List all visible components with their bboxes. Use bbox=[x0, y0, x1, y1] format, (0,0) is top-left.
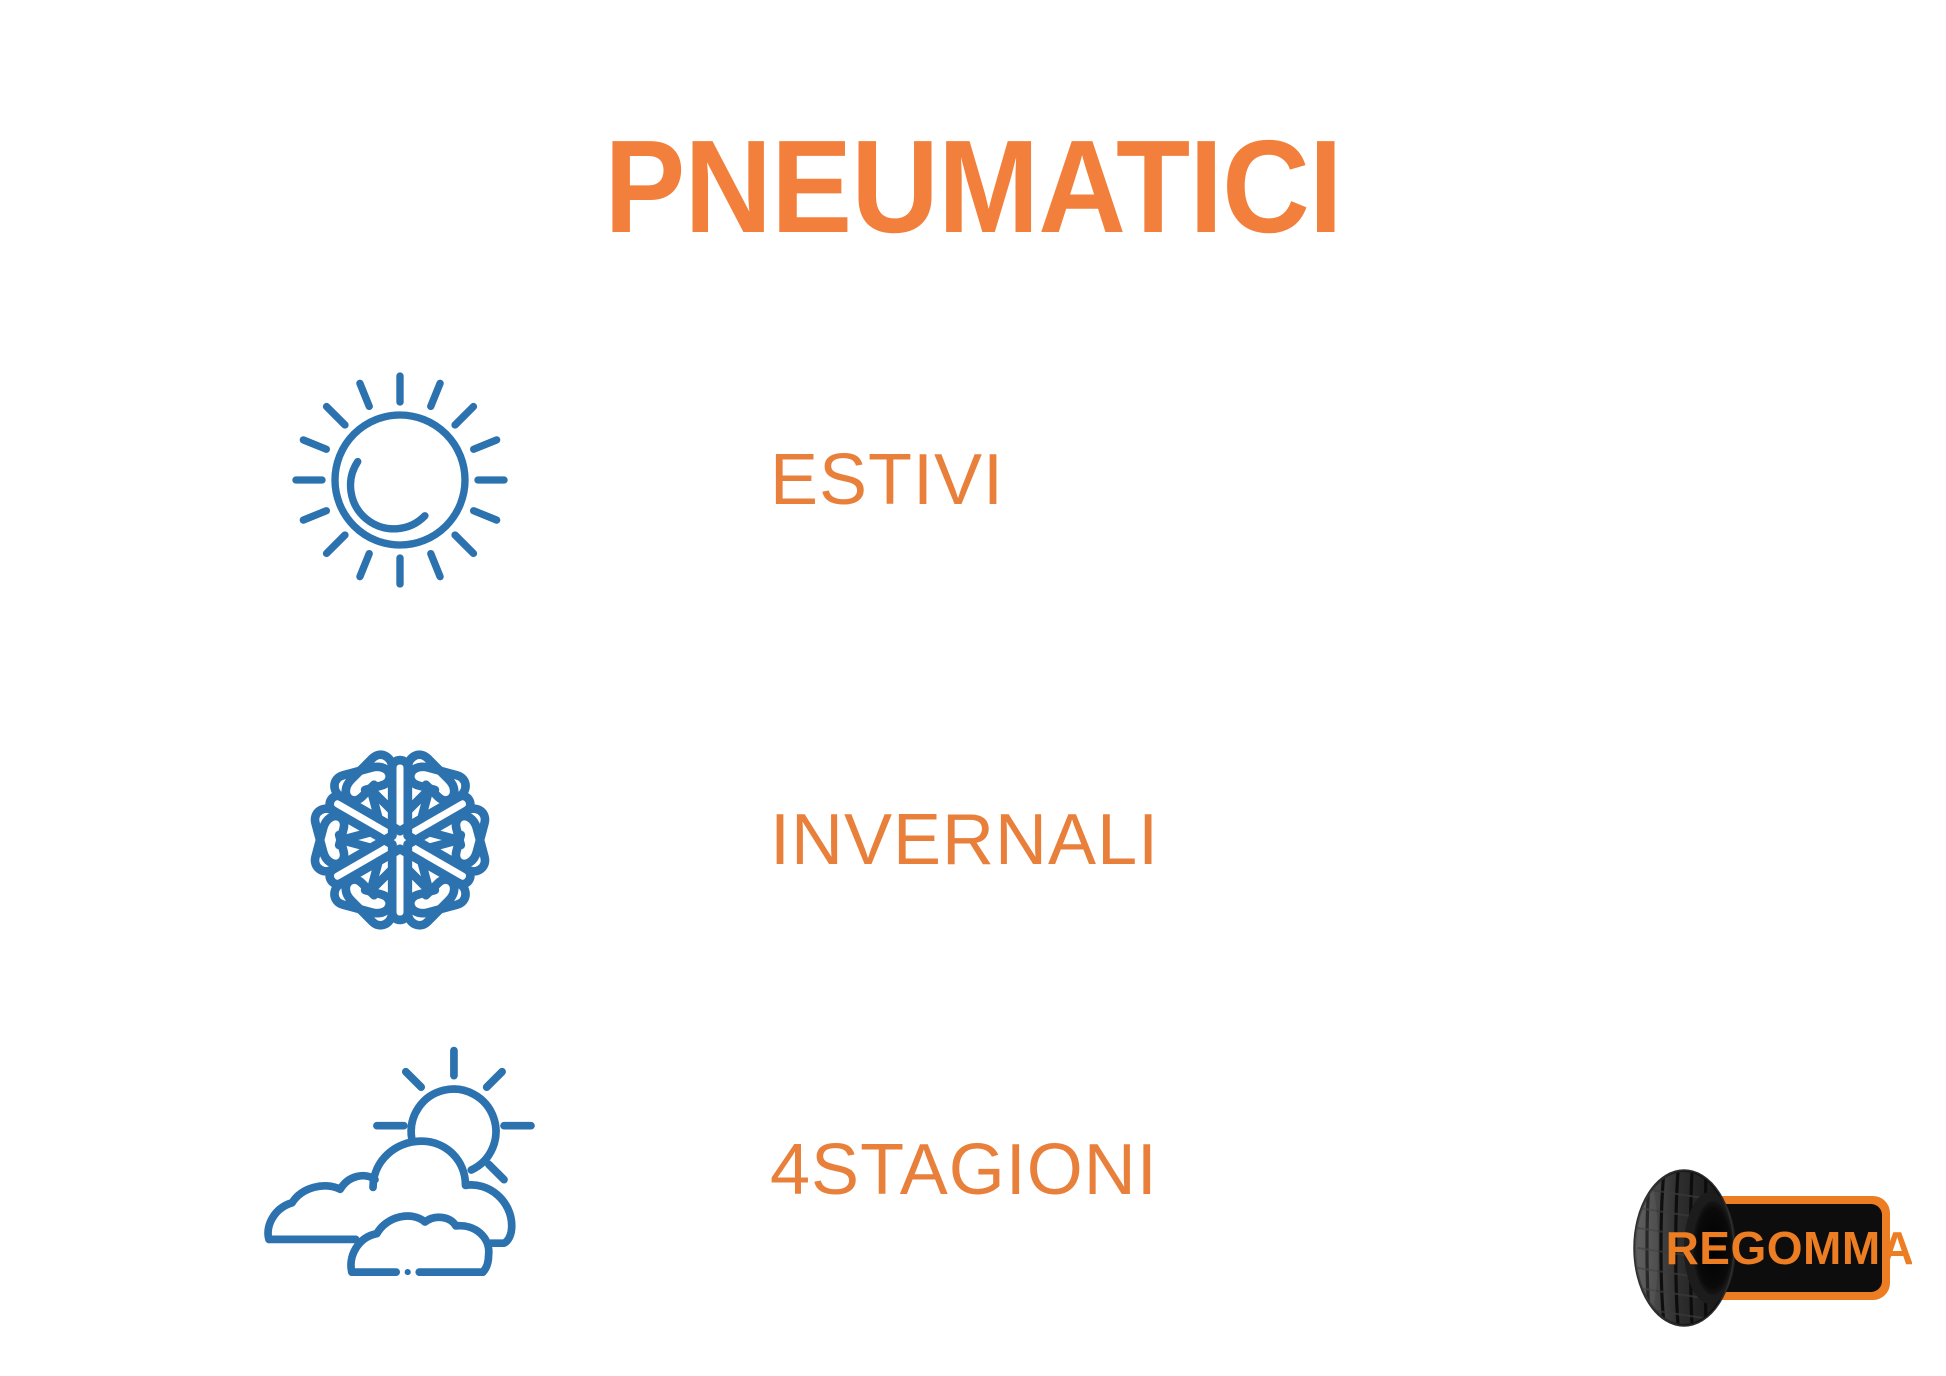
sun-icon bbox=[245, 330, 555, 630]
row-invernali: INVERNALI bbox=[0, 690, 1946, 990]
page-title: PNEUMATICI bbox=[78, 118, 1868, 257]
segment-label-invernali: INVERNALI bbox=[770, 799, 1159, 881]
segment-label-estivi: ESTIVI bbox=[770, 439, 1004, 521]
row-estivi: ESTIVI bbox=[0, 330, 1946, 630]
sun-behind-clouds-icon bbox=[245, 1020, 555, 1320]
snowflake-icon bbox=[245, 690, 555, 990]
label-cell-invernali: INVERNALI bbox=[770, 690, 1530, 990]
label-cell-4stagioni: 4STAGIONI bbox=[770, 1020, 1530, 1320]
segment-label-4stagioni: 4STAGIONI bbox=[770, 1129, 1158, 1211]
logo-wordmark: REGOMMA bbox=[1666, 1222, 1912, 1274]
regomma-logo[interactable]: REGOMMA bbox=[1612, 1148, 1912, 1348]
slide-canvas: PNEUMATICI bbox=[0, 0, 1946, 1376]
label-cell-estivi: ESTIVI bbox=[770, 330, 1530, 630]
